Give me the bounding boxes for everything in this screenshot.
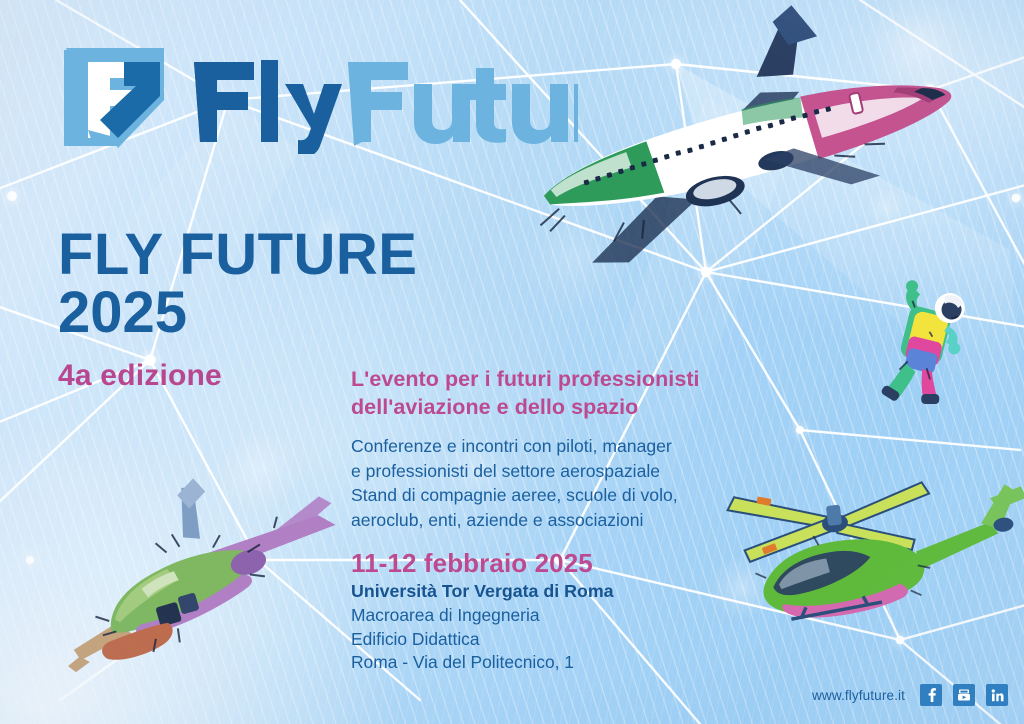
lead-line-2: dell'aviazione e dello spazio [351, 394, 821, 422]
event-date: 11-12 febbraio 2025 [351, 549, 821, 578]
flyfuture-wordmark [194, 60, 578, 154]
flyfuture-arrow-mark [64, 48, 164, 148]
address-line-2: Edificio Didattica [351, 628, 821, 651]
body-line-3: Stand di compagnie aeree, scuole di volo… [351, 483, 821, 508]
body-line-2: e professionisti del settore aerospazial… [351, 459, 821, 484]
body-line-4: aeroclub, enti, aziende e associazioni [351, 508, 821, 533]
event-details-block: 11-12 febbraio 2025 Università Tor Verga… [351, 549, 821, 674]
poster-canvas: FLY FUTURE 2025 4a edizione L'evento per… [0, 0, 1024, 724]
linkedin-icon[interactable] [986, 684, 1008, 706]
astronaut-illustration [878, 279, 974, 414]
youtube-icon[interactable] [953, 684, 975, 706]
address-line-3: Roma - Via del Politecnico, 1 [351, 651, 821, 674]
page-title: FLY FUTURE [58, 227, 498, 283]
lead-paragraph: L'evento per i futuri professionisti del… [351, 366, 821, 421]
copy-block: L'evento per i futuri professionisti del… [351, 366, 821, 533]
fighter-jet-illustration [28, 444, 357, 676]
facebook-icon[interactable] [920, 684, 942, 706]
website-link[interactable]: www.flyfuture.it [812, 688, 905, 703]
body-paragraph: Conferenze e incontri con piloti, manage… [351, 434, 821, 533]
event-venue: Università Tor Vergata di Roma [351, 580, 821, 603]
footer-bar: www.flyfuture.it [812, 684, 1008, 706]
address-line-1: Macroarea di Ingegneria [351, 604, 821, 627]
body-line-1: Conferenze e incontri con piloti, manage… [351, 434, 821, 459]
flyfuture-logo[interactable] [58, 42, 578, 154]
lead-line-1: L'evento per i futuri professionisti [351, 366, 821, 394]
event-year: 2025 [58, 283, 498, 343]
event-address: Macroarea di Ingegneria Edificio Didatti… [351, 604, 821, 674]
